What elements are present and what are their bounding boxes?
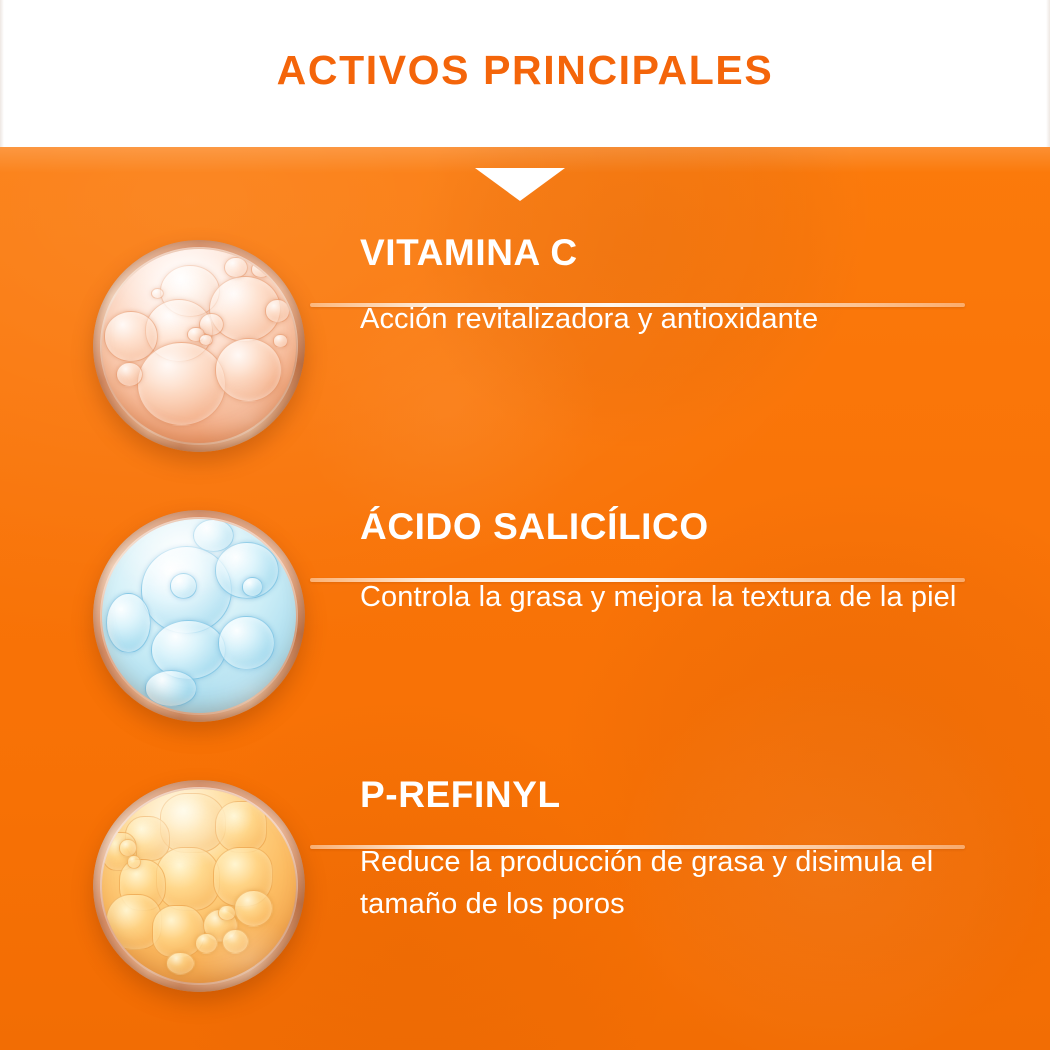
ingredient-name: P-REFINYL: [360, 768, 1000, 815]
bubble: [127, 855, 141, 869]
header-left-seam: [0, 0, 4, 147]
oil-cell: [215, 801, 267, 853]
bubble: [215, 338, 283, 402]
ingredient-name: VITAMINA C: [360, 228, 1000, 273]
bubble: [218, 905, 236, 921]
ingredient-description: Acción revitalizadora y antioxidante: [360, 273, 1000, 341]
petri-dish-acido-salicilico: [93, 510, 305, 722]
ingredient-text-p-refinyl: P-REFINYL Reduce la producción de grasa …: [360, 768, 1000, 925]
ingredient-description: Controla la grasa y mejora la textura de…: [360, 547, 1000, 619]
bubble: [251, 261, 270, 279]
petri-dish-vitamina-c: [93, 240, 305, 452]
bubble: [193, 519, 234, 552]
bubble: [170, 573, 197, 598]
bubble: [137, 342, 226, 425]
bubble: [242, 577, 263, 596]
oil-cell: [156, 847, 220, 911]
bubble: [273, 334, 289, 348]
bubble: [218, 616, 274, 670]
header-band: ACTIVOS PRINCIPALES: [0, 0, 1050, 147]
bubble: [199, 334, 213, 346]
bubble: [234, 890, 273, 927]
ingredient-description: Reduce la producción de grasa y disimula…: [360, 815, 1000, 926]
bubble: [265, 299, 290, 322]
dish-fluid-peach: [102, 249, 296, 443]
activos-principales-poster: ACTIVOS PRINCIPALES: [0, 0, 1050, 1050]
dish-fluid-blue: [102, 519, 296, 713]
bubble: [145, 670, 197, 707]
petri-dish-p-refinyl: [93, 780, 305, 992]
ingredient-text-vitamina-c: VITAMINA C Acción revitalizadora y antio…: [360, 228, 1000, 341]
ingredient-name: ÁCIDO SALICÍLICO: [360, 498, 1000, 547]
bubble: [222, 929, 249, 954]
dish-fluid-gold: [102, 789, 296, 983]
bubble: [224, 257, 247, 278]
down-triangle-icon: [475, 168, 565, 201]
page-title: ACTIVOS PRINCIPALES: [277, 50, 774, 91]
bubble: [116, 362, 143, 387]
bubble: [195, 933, 218, 954]
header-right-seam: [1046, 0, 1050, 147]
bubble: [166, 952, 195, 975]
ingredient-text-acido-salicilico: ÁCIDO SALICÍLICO Controla la grasa y mej…: [360, 498, 1000, 619]
bubble: [106, 593, 151, 653]
